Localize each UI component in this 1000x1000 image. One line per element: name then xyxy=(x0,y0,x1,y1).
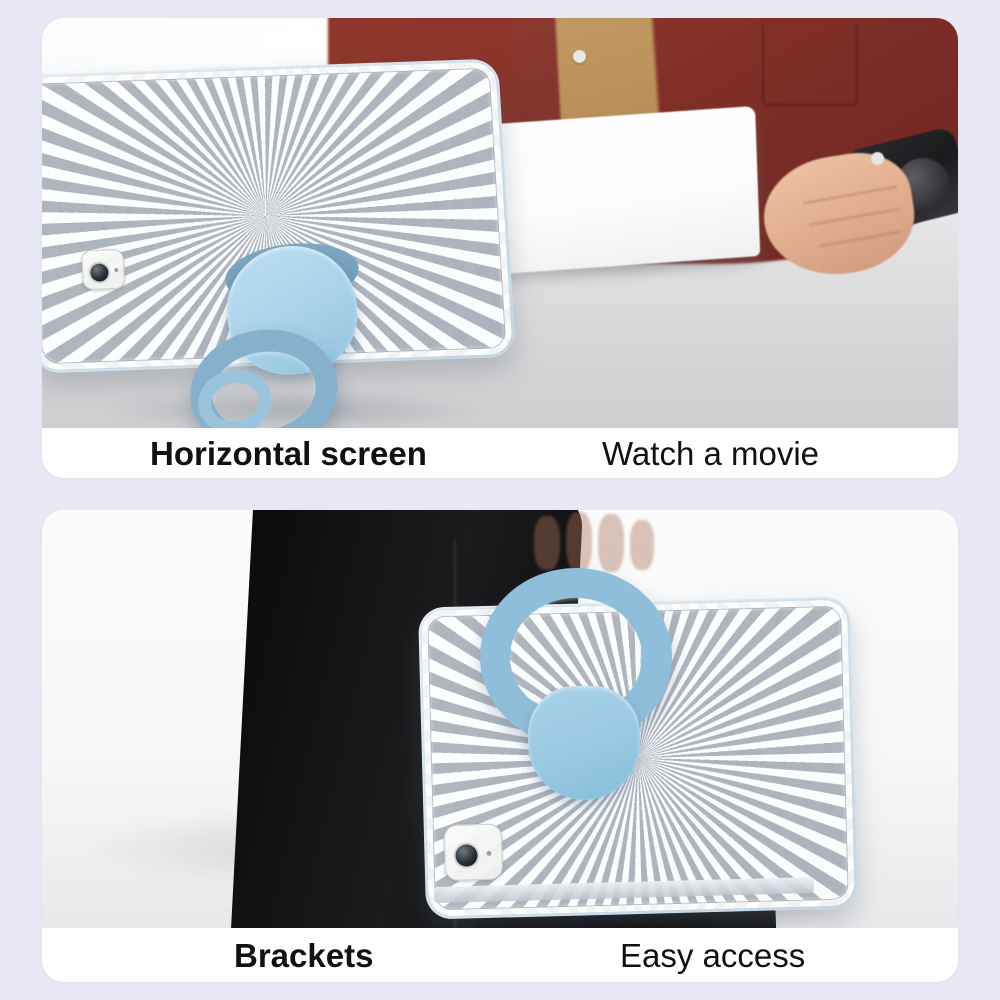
feature-panel-bottom[interactable]: Brackets Easy access xyxy=(42,510,958,982)
photo-horizontal-screen xyxy=(42,18,958,428)
ring-pad xyxy=(528,686,640,800)
caption-watch-a-movie: Watch a movie xyxy=(602,437,819,470)
caption-bar-bottom: Brackets Easy access xyxy=(42,928,958,982)
paper-sheet xyxy=(466,106,761,276)
camera-sensor-dot xyxy=(486,851,491,856)
caption-brackets: Brackets xyxy=(234,939,373,972)
knuckle xyxy=(534,516,560,570)
shirt-button xyxy=(573,50,586,63)
knuckle xyxy=(630,520,654,570)
caption-bar-top: Horizontal screen Watch a movie xyxy=(42,428,958,478)
watch-pin xyxy=(871,152,884,165)
shirt-pocket xyxy=(762,24,858,106)
feature-panel-top[interactable]: Horizontal screen Watch a movie xyxy=(42,18,958,478)
caption-easy-access: Easy access xyxy=(620,939,805,972)
product-feature-page: Horizontal screen Watch a movie xyxy=(0,0,1000,1000)
knuckle xyxy=(566,512,592,572)
knuckle xyxy=(598,514,624,572)
photo-brackets xyxy=(42,510,958,928)
camera-sensor-dot xyxy=(114,268,118,272)
caption-horizontal-screen: Horizontal screen xyxy=(150,437,427,470)
